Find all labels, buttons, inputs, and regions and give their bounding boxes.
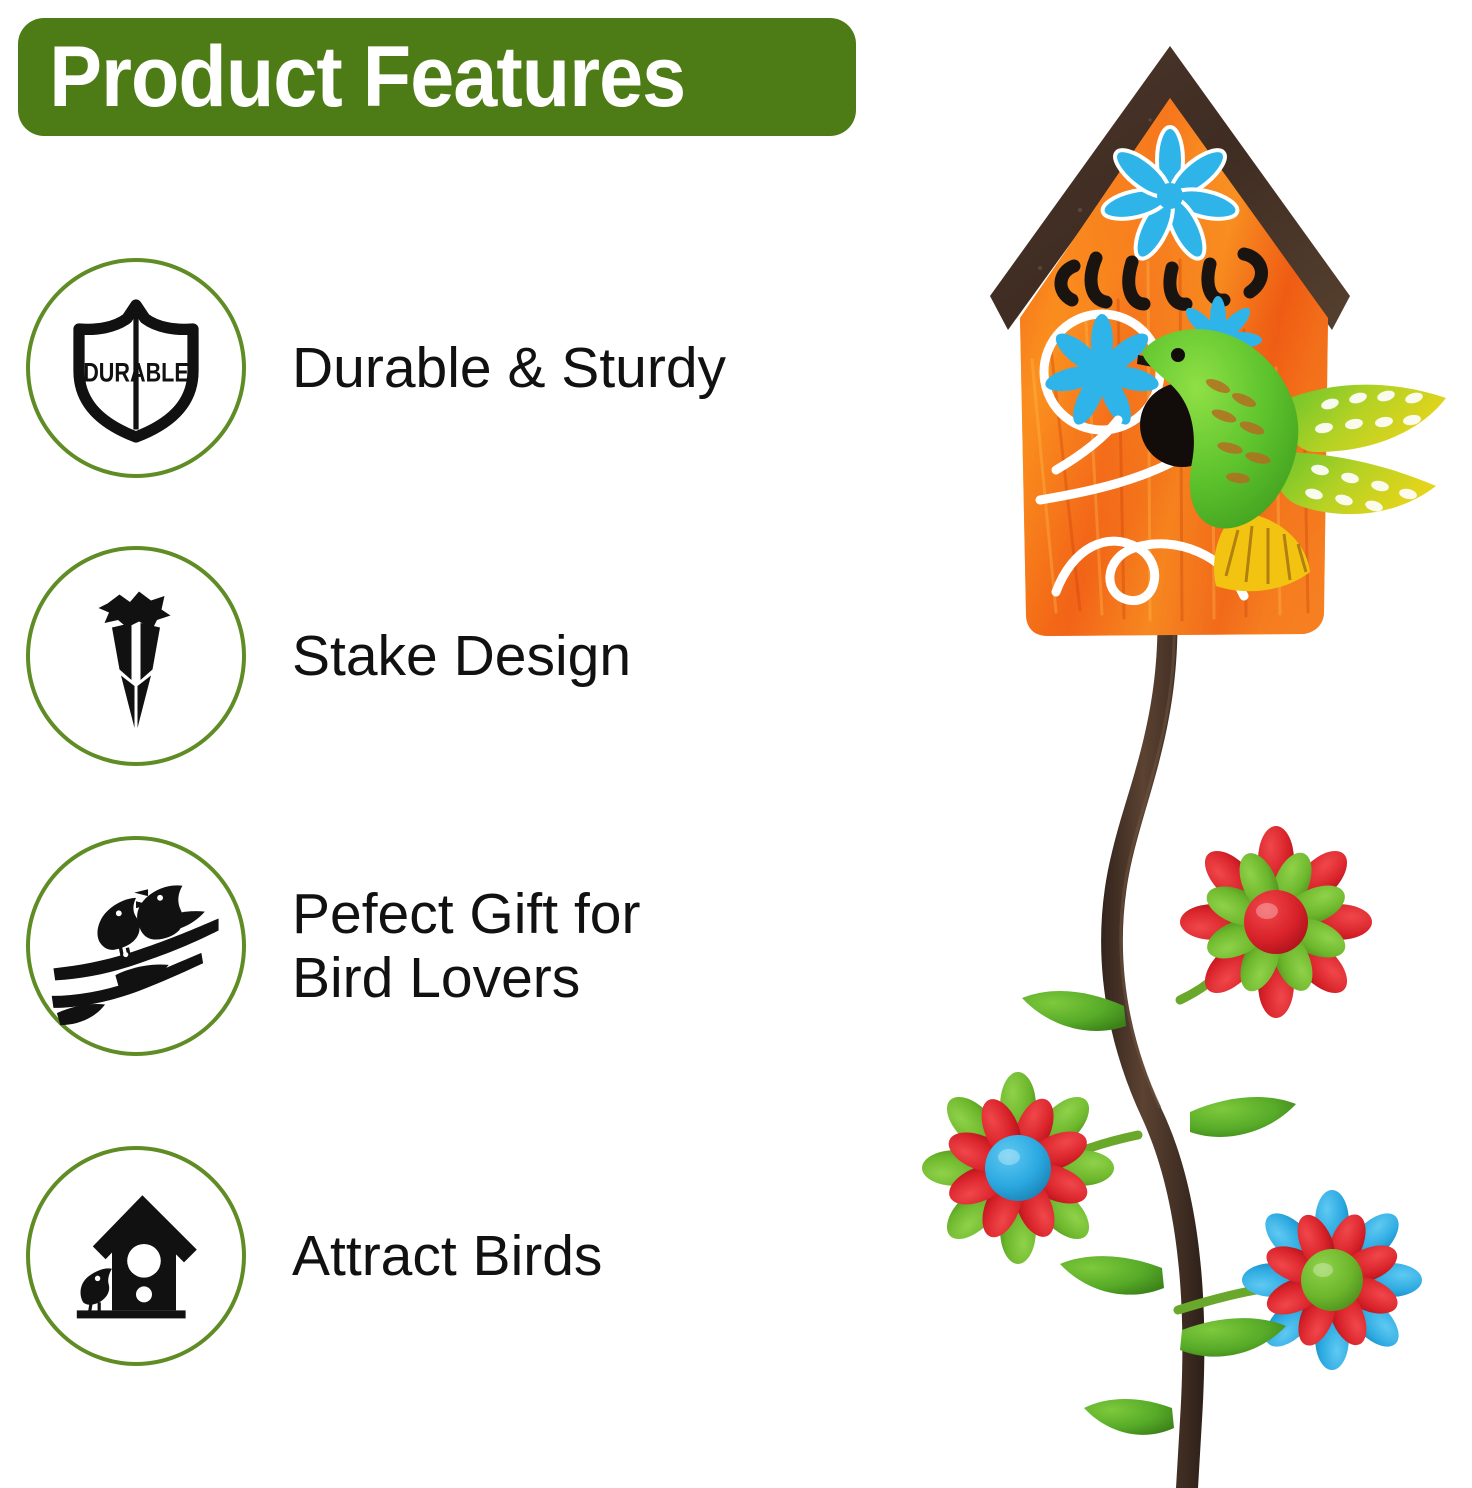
feature-item-stake: Stake Design <box>0 546 631 766</box>
page-title: Product Features <box>18 34 685 120</box>
header-badge: Product Features <box>18 18 856 136</box>
feature-label-durable: Durable & Sturdy <box>292 336 726 400</box>
birdhouse-with-bird-icon <box>26 1146 246 1366</box>
feature-label-attract: Attract Birds <box>292 1224 602 1288</box>
two-birds-on-branch-icon <box>26 836 246 1056</box>
feature-item-gift: Pefect Gift for Bird Lovers <box>0 836 640 1056</box>
feature-label-gift: Pefect Gift for Bird Lovers <box>292 882 640 1010</box>
infographic-canvas: Product Features DURABLE Durable & Sturd… <box>0 0 1472 1488</box>
feature-label-stake: Stake Design <box>292 624 631 688</box>
product-photo <box>880 0 1472 1488</box>
feature-item-durable: DURABLE Durable & Sturdy <box>0 258 726 478</box>
flower-upper-right <box>1180 826 1372 1018</box>
shield-icon-label: DURABLE <box>83 358 189 388</box>
feature-item-attract: Attract Birds <box>0 1146 602 1366</box>
shield-durable-icon: DURABLE <box>26 258 246 478</box>
flower-middle-left <box>922 1072 1138 1264</box>
ground-stake-icon <box>26 546 246 766</box>
garden-stake-rod <box>1101 600 1204 1488</box>
